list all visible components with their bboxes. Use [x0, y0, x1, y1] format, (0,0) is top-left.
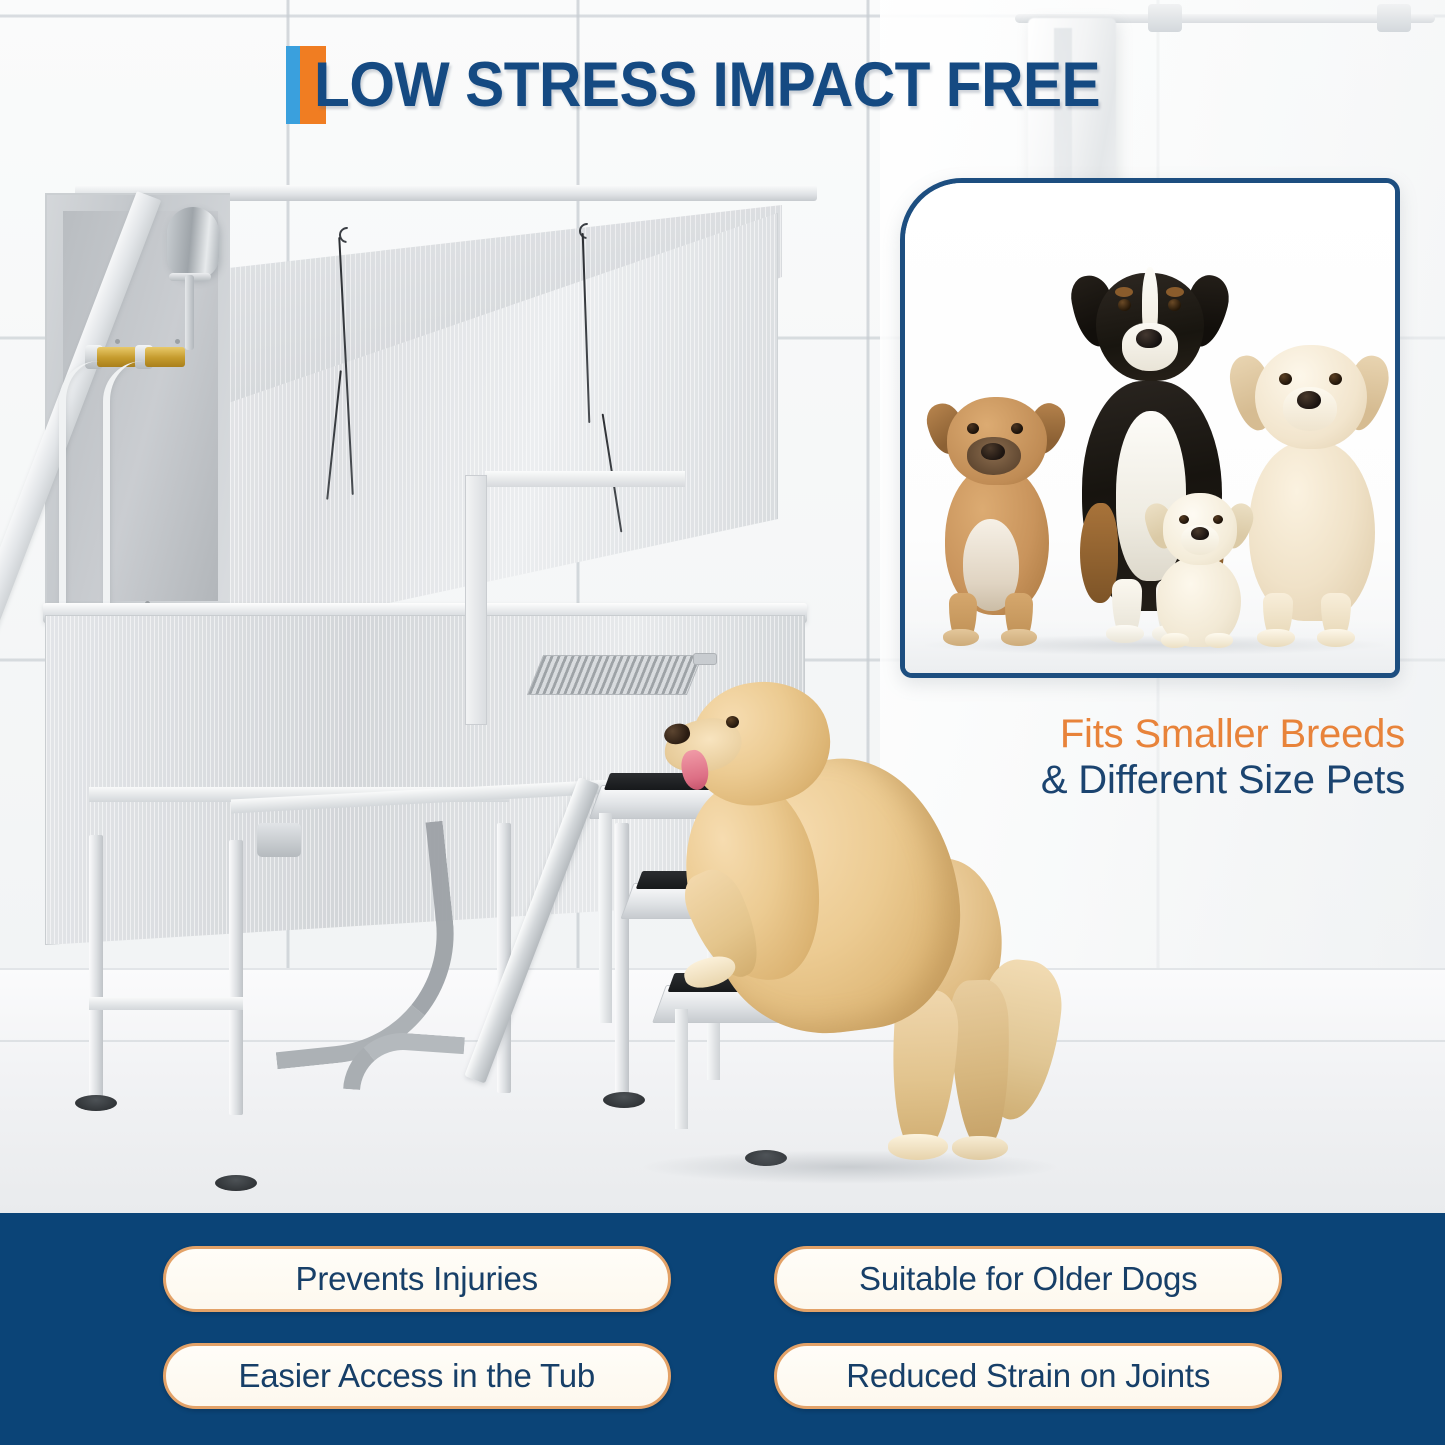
dog-eyebrow-marking [1166, 287, 1184, 297]
feature-pill-reduced-strain: Reduced Strain on Joints [774, 1343, 1282, 1409]
dog-paw [1001, 629, 1037, 646]
feature-pill-easier-access: Easier Access in the Tub [163, 1343, 671, 1409]
tub-inner-divider [465, 475, 487, 725]
dog-eye [967, 423, 979, 434]
dog-eye [1179, 515, 1189, 524]
shower-stem [185, 275, 194, 350]
page-title: LOW STRESS IMPACT FREE [286, 46, 1159, 124]
dog-rear-leg [949, 979, 1013, 1149]
callout-text: Fits Smaller Breeds & Different Size Pet… [900, 712, 1405, 803]
photo-backdrop [905, 183, 1395, 673]
small-tan-dog [919, 379, 1069, 647]
dog-rear-paw [888, 1134, 948, 1160]
dog-rear-paw [952, 1136, 1008, 1160]
rail-mount-right-icon [1377, 4, 1411, 32]
grate-handle-icon [693, 653, 717, 665]
tub-leg [229, 840, 243, 1115]
product-infographic: LOW STRESS IMPACT FREE [0, 0, 1445, 1445]
dog-paw [943, 629, 979, 646]
adjustable-foot [215, 1175, 257, 1191]
drain-hose [253, 821, 466, 1070]
dog-paw [1106, 625, 1144, 643]
callout-line-1: Fits Smaller Breeds [900, 712, 1405, 758]
tub-leg [89, 835, 103, 1097]
dog-eye [1213, 515, 1223, 524]
stair-leg [599, 813, 612, 1023]
dog-paw [1257, 629, 1295, 647]
size-comparison-photo-frame [900, 178, 1400, 678]
brass-faucet-valve [145, 347, 185, 367]
dog-nose [1191, 527, 1209, 540]
dog-nose [981, 443, 1005, 460]
dog-eye [1329, 373, 1342, 385]
cream-puppy [1143, 485, 1253, 657]
dog-eye [1118, 299, 1131, 311]
dog-nose [1136, 329, 1162, 348]
shower-head-icon [167, 207, 219, 279]
dog-paw [1161, 633, 1189, 648]
dog-eye [1279, 373, 1292, 385]
rail-mount-left-icon [1148, 4, 1182, 32]
feature-pill-prevents-injuries: Prevents Injuries [163, 1246, 671, 1312]
dog-nose [1297, 391, 1321, 409]
dog-paw [1317, 629, 1355, 647]
dog-eye [1011, 423, 1023, 434]
frame-crossbar [89, 997, 243, 1010]
dog-paw [1205, 633, 1233, 648]
tub-inner-ledge [485, 471, 685, 487]
dog-eye [726, 716, 739, 728]
callout-line-2: & Different Size Pets [900, 758, 1405, 804]
dog-eye [1168, 299, 1181, 311]
dog-eyebrow-marking [1115, 287, 1133, 297]
adjustable-foot [75, 1095, 117, 1111]
feature-pill-older-dogs: Suitable for Older Dogs [774, 1246, 1282, 1312]
feature-banner: Prevents Injuries Suitable for Older Dog… [0, 1213, 1445, 1445]
title-text: LOW STRESS IMPACT FREE [314, 49, 1100, 121]
